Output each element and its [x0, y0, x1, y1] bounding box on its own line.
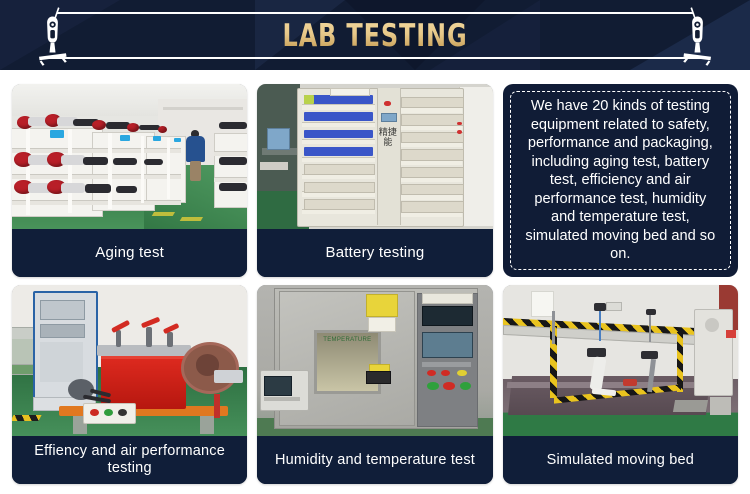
card-caption: Effiency and air performance testing [12, 436, 247, 484]
info-panel: We have 20 kinds of testing equipment re… [503, 84, 738, 277]
card-battery-testing[interactable]: 精捷能 [257, 84, 492, 277]
battery-cabinet-text: 精捷能 [377, 128, 398, 148]
photo-battery-testing: 精捷能 [257, 84, 492, 229]
photo-simulated-moving-bed [503, 285, 738, 436]
card-efficiency-air-performance-testing[interactable]: Effiency and air performance testing [12, 285, 247, 484]
card-humidity-temperature-test[interactable]: TEMPERATURE [257, 285, 492, 484]
photo-efficiency-air-performance [12, 285, 247, 436]
info-panel-text: We have 20 kinds of testing equipment re… [513, 93, 728, 268]
testing-cards-grid: Aging test 精捷能 [0, 70, 750, 494]
lab-testing-page: LAB TESTING [0, 0, 750, 494]
page-title: LAB TESTING [53, 14, 698, 58]
card-aging-test[interactable]: Aging test [12, 84, 247, 277]
chamber-window-text: TEMPERATURE [317, 337, 378, 343]
photo-aging-test [12, 84, 247, 229]
card-caption: Simulated moving bed [503, 436, 738, 484]
card-caption: Aging test [12, 229, 247, 277]
card-simulated-moving-bed[interactable]: Simulated moving bed [503, 285, 738, 484]
photo-humidity-temperature: TEMPERATURE [257, 285, 492, 436]
card-caption: Battery testing [257, 229, 492, 277]
page-header: LAB TESTING [0, 0, 750, 70]
card-caption: Humidity and temperature test [257, 436, 492, 484]
